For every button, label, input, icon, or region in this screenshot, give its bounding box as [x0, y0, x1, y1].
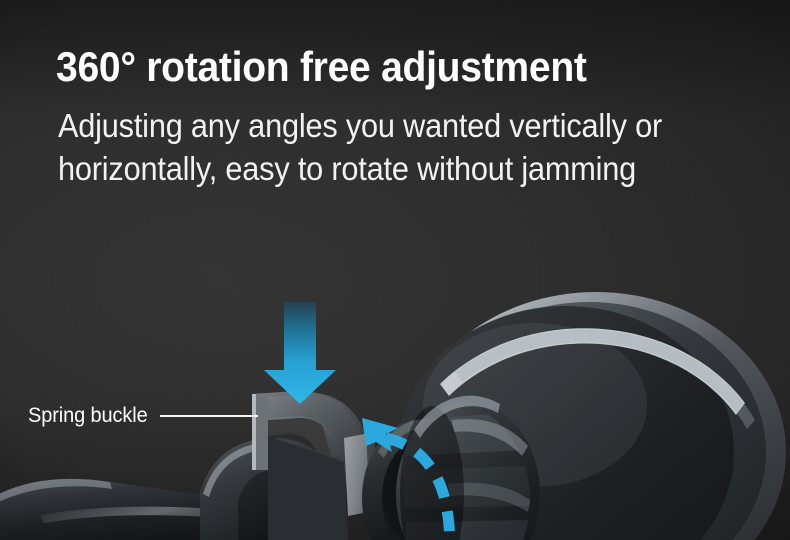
callout-leader-line: [160, 415, 258, 417]
promo-banner: 360° rotation free adjustment Adjusting …: [0, 0, 790, 540]
callout-spring-buckle: Spring buckle: [28, 404, 258, 428]
callout-label: Spring buckle: [28, 404, 148, 428]
page-title: 360° rotation free adjustment: [56, 44, 698, 89]
page-subtitle: Adjusting any angles you wanted vertical…: [58, 105, 774, 189]
text-block: 360° rotation free adjustment Adjusting …: [56, 44, 746, 190]
